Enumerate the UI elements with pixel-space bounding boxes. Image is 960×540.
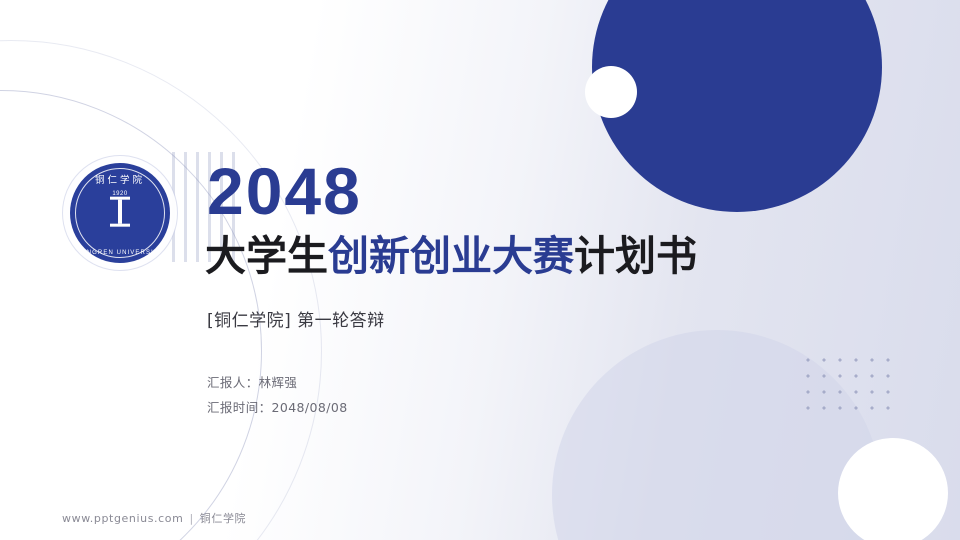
slide-meta: 汇报人：林辉强 汇报时间：2048/08/08 bbox=[207, 370, 348, 420]
footer-separator: | bbox=[189, 512, 193, 525]
logo-name-cn: 铜仁学院 bbox=[70, 172, 170, 186]
logo-name-en: TONGREN UNIVERSITY bbox=[70, 250, 170, 256]
slide-title-part1: 大学生 bbox=[205, 232, 328, 280]
footer: www.pptgenius.com|铜仁学院 bbox=[62, 510, 246, 526]
slide-title-accent: 创新创业大赛 bbox=[328, 232, 574, 280]
presentation-slide: 铜仁学院 1920 TONGREN UNIVERSITY 2048 大学生创新创… bbox=[0, 0, 960, 540]
footer-website: www.pptgenius.com bbox=[62, 512, 183, 525]
footer-organization: 铜仁学院 bbox=[200, 512, 246, 525]
decorative-dot-grid bbox=[800, 352, 896, 414]
logo-inner: 铜仁学院 1920 TONGREN UNIVERSITY bbox=[70, 163, 170, 263]
logo-emblem-icon bbox=[107, 197, 133, 231]
slide-subtitle: [铜仁学院] 第一轮答辩 bbox=[207, 306, 385, 331]
decorative-circle-white-bottom bbox=[838, 438, 948, 540]
date-line: 汇报时间：2048/08/08 bbox=[207, 395, 348, 420]
university-logo: 铜仁学院 1920 TONGREN UNIVERSITY bbox=[70, 163, 170, 263]
slide-title: 大学生创新创业大赛计划书 bbox=[205, 234, 697, 280]
presenter-line: 汇报人：林辉强 bbox=[207, 370, 348, 395]
decorative-circle-white-small bbox=[585, 66, 637, 118]
slide-year: 2048 bbox=[207, 158, 362, 224]
slide-title-part2: 计划书 bbox=[574, 232, 697, 280]
